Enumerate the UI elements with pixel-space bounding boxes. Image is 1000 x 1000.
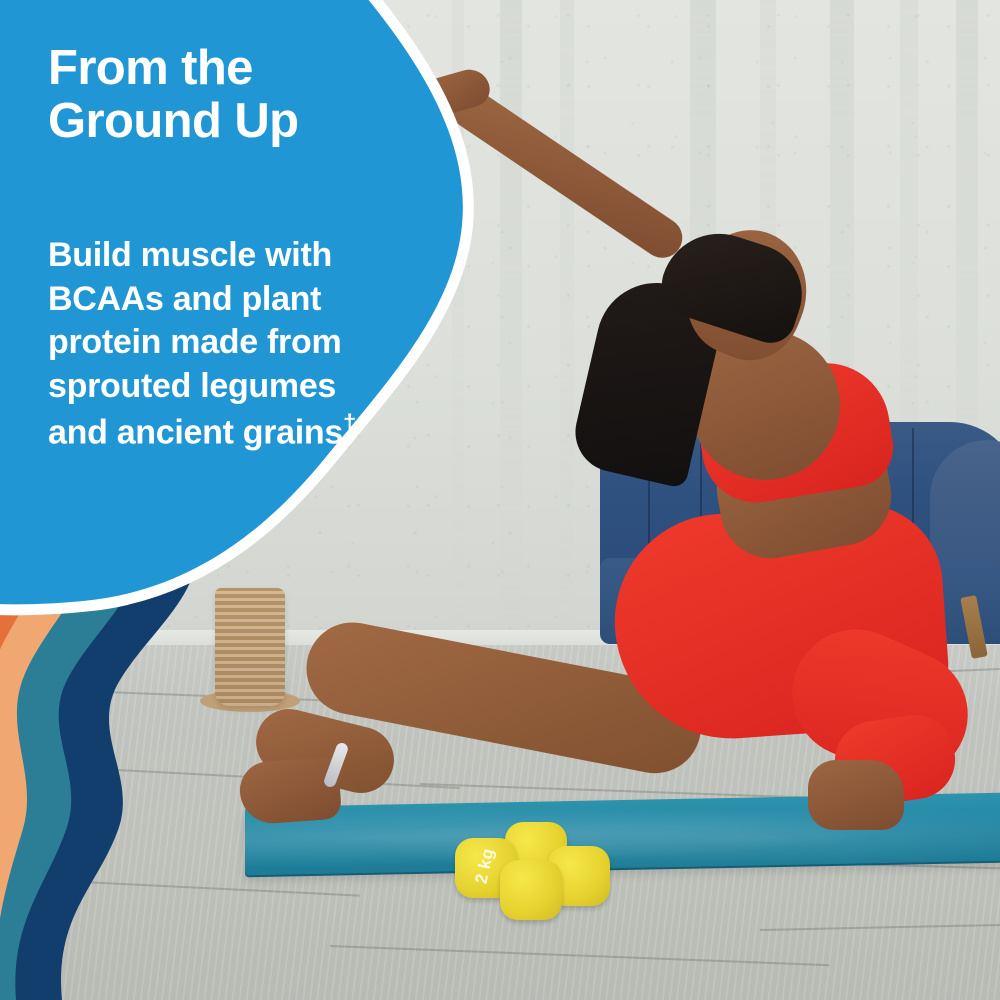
panel-body-sentence: Build muscle with BCAAs and plant protei… <box>48 236 343 452</box>
footnote-dagger: † <box>343 410 356 437</box>
dumbbell-weight-label: 2 kg <box>471 846 498 885</box>
poster-canvas: 2 kg From the Ground Up Build muscle wit… <box>0 0 1000 1000</box>
panel-copy: From the Ground Up Build muscle with BCA… <box>48 42 408 455</box>
panel-body-text: Build muscle with BCAAs and plant protei… <box>48 190 408 455</box>
front-foot <box>808 760 904 830</box>
page-title: From the Ground Up <box>48 42 408 148</box>
